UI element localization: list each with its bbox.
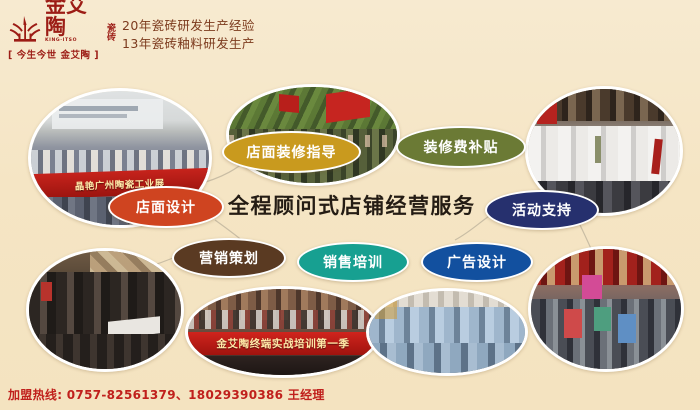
label-text: 店面设计 bbox=[136, 197, 196, 217]
photo-dealer-registration bbox=[26, 248, 184, 372]
label-activity-support[interactable]: 活动支持 bbox=[485, 190, 599, 230]
poster-canvas: 金艾陶 KING·ITSO 瓷 砖 [ 今生今世 金艾陶 ] 20年瓷砖研发生产… bbox=[0, 0, 700, 410]
label-text: 广告设计 bbox=[447, 252, 507, 272]
label-decoration-subsidy[interactable]: 装修费补贴 bbox=[396, 126, 526, 168]
photo-banner-text: 金艾陶终端实战培训第一季 bbox=[185, 332, 381, 355]
label-text: 销售培训 bbox=[323, 252, 383, 272]
label-text: 店面装修指导 bbox=[247, 142, 337, 162]
label-marketing-planning[interactable]: 营销策划 bbox=[172, 238, 286, 278]
label-advertising-design[interactable]: 广告设计 bbox=[421, 242, 533, 282]
hotline-text: 加盟热线: 0757-82561379、18029390386 王经理 bbox=[8, 386, 325, 403]
label-store-design[interactable]: 店面设计 bbox=[108, 186, 224, 228]
label-text: 营销策划 bbox=[199, 248, 259, 268]
page-title: 全程顾问式店铺经营服务 bbox=[228, 190, 476, 220]
photo-uniform-staff-group bbox=[366, 288, 528, 376]
label-decoration-guidance[interactable]: 店面装修指导 bbox=[222, 131, 361, 173]
photo-training-conference: 金艾陶终端实战培训第一季 bbox=[185, 286, 381, 378]
label-sales-training[interactable]: 销售培训 bbox=[297, 242, 409, 282]
label-text: 装修费补贴 bbox=[424, 137, 499, 157]
photo-store-opening-crowd bbox=[528, 246, 684, 372]
label-text: 活动支持 bbox=[512, 200, 572, 220]
